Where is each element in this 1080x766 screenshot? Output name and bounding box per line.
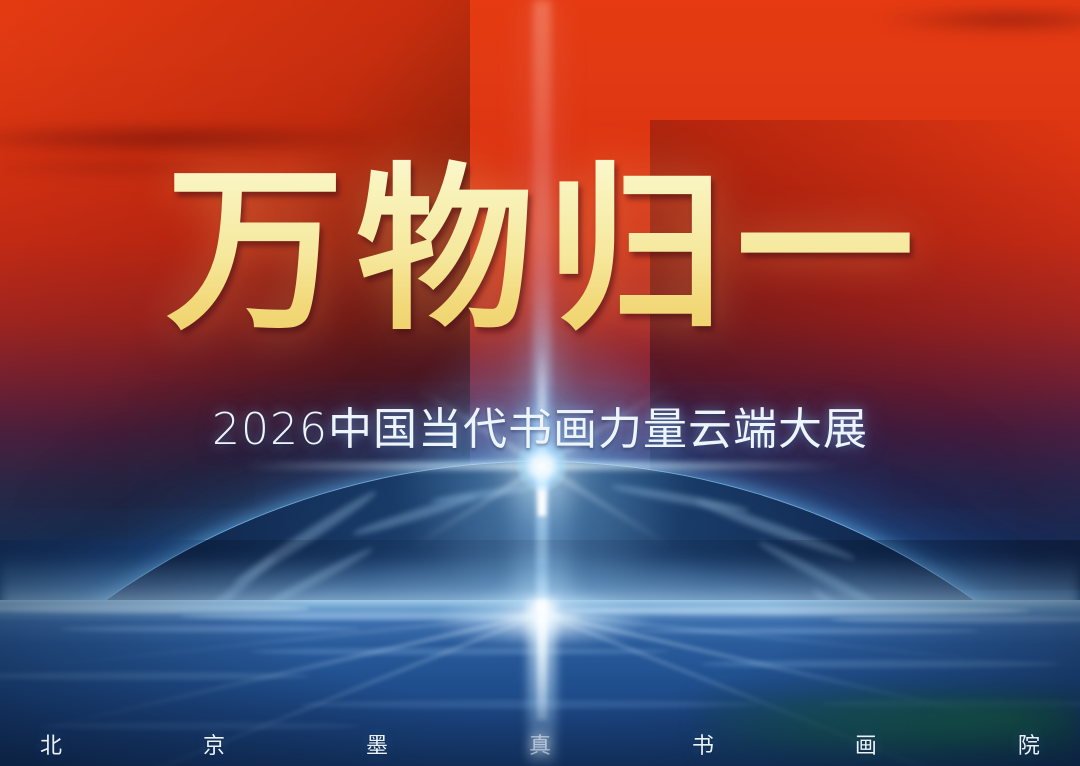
footer-char-3: 墨 xyxy=(366,728,388,760)
footer-char-6: 画 xyxy=(855,728,877,760)
footer-char-4: 真 xyxy=(529,728,551,760)
poster-canvas: 万物归一 2026中国当代书画力量云端大展 北 京 墨 真 书 画 院 xyxy=(0,0,1080,766)
footer-organization-name: 北 京 墨 真 书 画 院 xyxy=(40,728,1040,760)
poster-subtitle: 2026中国当代书画力量云端大展 xyxy=(0,404,1080,456)
poster-title: 万物归一 xyxy=(0,150,1080,350)
footer-char-5: 书 xyxy=(692,728,714,760)
footer-char-1: 北 xyxy=(40,728,62,760)
footer-char-7: 院 xyxy=(1018,728,1040,760)
footer-char-2: 京 xyxy=(203,728,225,760)
